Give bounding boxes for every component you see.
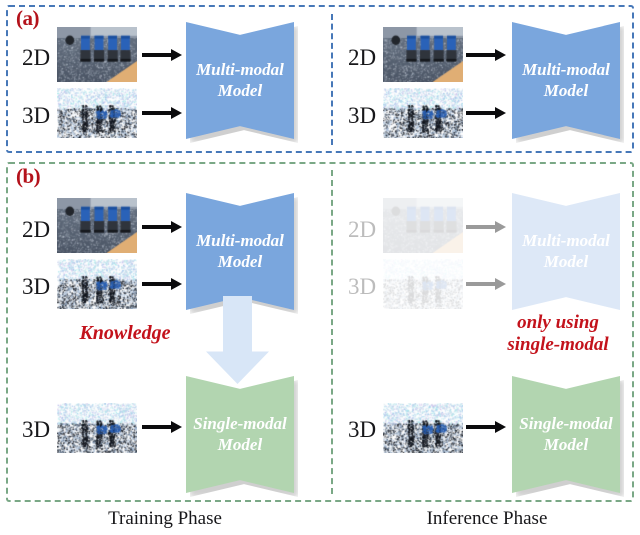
inference-note: only using single-modal (488, 312, 628, 357)
model-label-line1: Multi-modal (196, 231, 284, 251)
panel-b-left-student-input-3d-label: 3D (22, 417, 50, 443)
panel-a-column-divider (331, 14, 333, 145)
model-label-line1: Multi-modal (522, 60, 610, 80)
panel-a-right-arrow-2d (466, 49, 506, 61)
panel-b-right-arrow-3d (466, 278, 506, 290)
inference-note-line2: single-modal (507, 334, 608, 355)
panel-b-right-input-2d-label: 2D (348, 217, 376, 243)
panel-b-right-pointcloud-thumbnail (383, 259, 463, 309)
model-label-line1: Single-modal (193, 414, 287, 434)
panel-b-column-divider (331, 170, 333, 494)
knowledge-label: Knowledge (60, 322, 190, 346)
panel-a-right-multimodal-model: Multi-modal Model (512, 22, 620, 139)
caption-inference-phase: Inference Phase (387, 508, 587, 530)
panel-b-right-student-input-3d-label: 3D (348, 417, 376, 443)
panel-a-left-input-3d-label: 3D (22, 103, 50, 129)
panel-b-left-student-pointcloud-thumbnail (57, 403, 137, 453)
inference-note-line1: only using (517, 312, 599, 333)
panel-b-left-arrow-student-3d (142, 421, 182, 433)
model-label-line2: Model (544, 252, 588, 272)
model-label-line2: Model (544, 435, 588, 455)
panel-b-left-input-3d-label: 3D (22, 274, 50, 300)
panel-a-left-multimodal-model: Multi-modal Model (186, 22, 294, 139)
panel-b-left-input-2d-label: 2D (22, 217, 50, 243)
panel-b-left-arrow-2d (142, 221, 182, 233)
panel-a-left-arrow-2d (142, 49, 182, 61)
panel-a-letter: (a) (16, 6, 39, 31)
model-label-line2: Model (218, 435, 262, 455)
panel-b-left-photo-thumbnail (57, 198, 137, 253)
caption-training-phase: Training Phase (65, 508, 265, 530)
panel-b-left-multimodal-model: Multi-modal Model (186, 193, 294, 310)
panel-a-left-arrow-3d (142, 107, 182, 119)
model-label-line1: Multi-modal (196, 60, 284, 80)
panel-b-right-arrow-student-3d (466, 421, 506, 433)
panel-a-right-photo-thumbnail (383, 27, 463, 82)
model-label-line1: Multi-modal (522, 231, 610, 251)
panel-a-right-input-3d-label: 3D (348, 103, 376, 129)
model-label-line2: Model (544, 81, 588, 101)
panel-b-left-pointcloud-thumbnail (57, 259, 137, 309)
panel-a-right-input-2d-label: 2D (348, 45, 376, 71)
panel-a-left-pointcloud-thumbnail (57, 88, 137, 138)
panel-a-right-pointcloud-thumbnail (383, 88, 463, 138)
panel-a-left-photo-thumbnail (57, 27, 137, 82)
panel-a-right-arrow-3d (466, 107, 506, 119)
panel-b-left-singlemodal-model: Single-modal Model (186, 376, 294, 493)
panel-b-right-student-pointcloud-thumbnail (383, 403, 463, 453)
panel-b-right-multimodal-model-disabled: Multi-modal Model (512, 193, 620, 310)
panel-b-right-photo-thumbnail (383, 198, 463, 253)
panel-b-letter: (b) (16, 164, 40, 189)
panel-b-right-input-3d-label: 3D (348, 274, 376, 300)
panel-b-right-singlemodal-model: Single-modal Model (512, 376, 620, 493)
model-label-line2: Model (218, 252, 262, 272)
panel-b-right-arrow-2d (466, 221, 506, 233)
model-label-line2: Model (218, 81, 262, 101)
panel-a-left-input-2d-label: 2D (22, 45, 50, 71)
panel-b-left-arrow-3d (142, 278, 182, 290)
model-label-line1: Single-modal (519, 414, 613, 434)
